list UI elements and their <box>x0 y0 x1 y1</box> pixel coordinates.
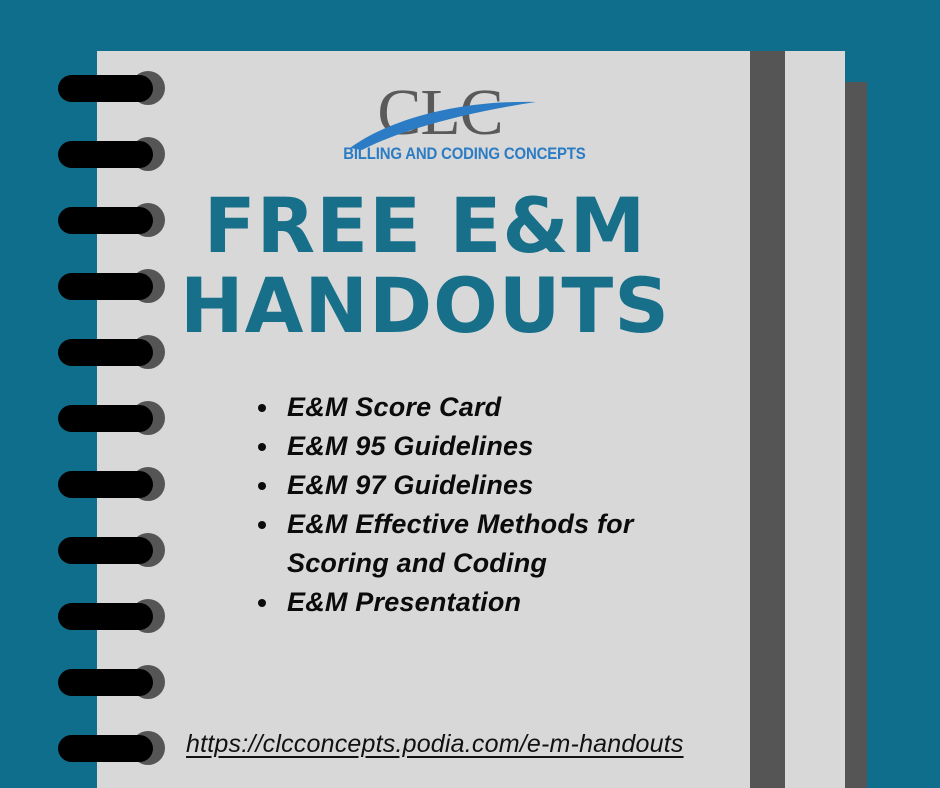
list-item: E&M Effective Methods for Scoring and Co… <box>248 505 688 583</box>
logo-tagline: BILLING AND CODING CONCEPTS <box>343 144 537 164</box>
list-item-label: E&M 95 Guidelines <box>287 431 533 461</box>
bullet-dot-icon <box>258 404 266 412</box>
list-item: E&M Presentation <box>248 583 688 622</box>
page-back-sheet <box>785 51 845 788</box>
clc-logo: CLC BILLING AND CODING CONCEPTS <box>330 78 550 174</box>
page-shadow-strip <box>845 82 867 788</box>
list-item-label: E&M Score Card <box>287 392 501 422</box>
list-item: E&M 97 Guidelines <box>248 466 688 505</box>
bullet-dot-icon <box>258 482 266 490</box>
list-item-label: E&M 97 Guidelines <box>287 470 533 500</box>
list-item-label: E&M Effective Methods for Scoring and Co… <box>287 509 634 578</box>
swoosh-arc-icon <box>348 98 538 150</box>
page-divider-strip <box>750 51 785 788</box>
headline-line-1: FREE E&M <box>120 186 730 266</box>
bullet-dot-icon <box>258 521 266 529</box>
handout-list: E&M Score CardE&M 95 GuidelinesE&M 97 Gu… <box>248 388 688 622</box>
handouts-url-link[interactable]: https://clcconcepts.podia.com/e-m-handou… <box>186 730 684 759</box>
logo-mark: CLC <box>330 78 550 150</box>
list-item: E&M 95 Guidelines <box>248 427 688 466</box>
bullet-dot-icon <box>258 443 266 451</box>
list-item: E&M Score Card <box>248 388 688 427</box>
list-item-label: E&M Presentation <box>287 587 521 617</box>
bullet-dot-icon <box>258 599 266 607</box>
page-title: FREE E&M HANDOUTS <box>120 186 730 346</box>
headline-line-2: HANDOUTS <box>120 266 730 346</box>
poster-canvas: CLC BILLING AND CODING CONCEPTS FREE E&M… <box>0 0 940 788</box>
